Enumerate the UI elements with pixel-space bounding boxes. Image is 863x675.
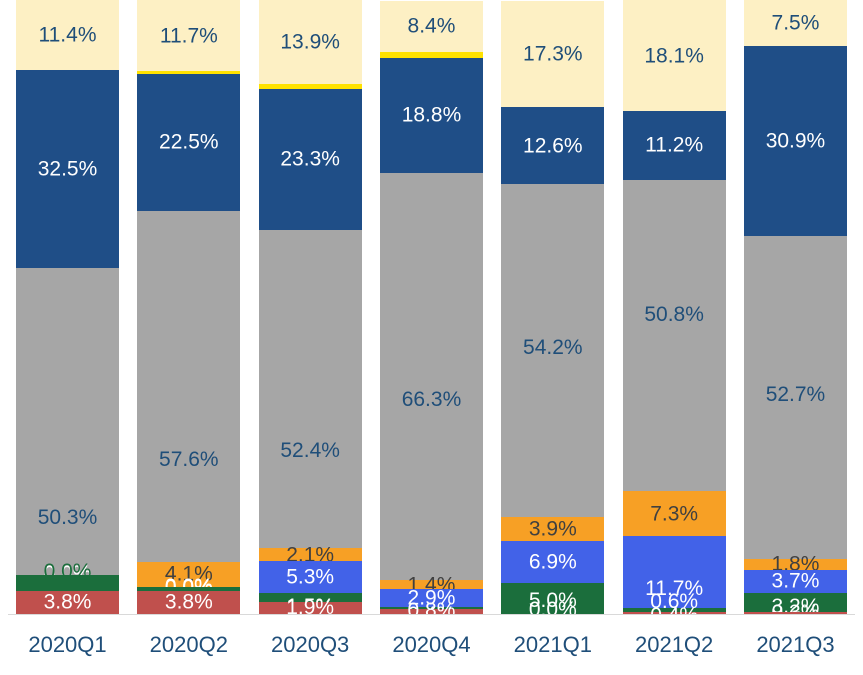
axis-label-2021Q2: 2021Q2 xyxy=(623,632,726,658)
segment-label-blue-2021Q1: 6.9% xyxy=(501,552,604,573)
segment-label-blue-2021Q2: 11.7% xyxy=(623,578,726,599)
segment-label-red-2020Q1: 3.8% xyxy=(16,592,119,613)
segment-label-dark-blue-2020Q3: 23.3% xyxy=(259,149,362,170)
axis-label-2020Q3: 2020Q3 xyxy=(259,632,362,658)
segment-orange-2020Q2[interactable]: 4.1% 0.0% xyxy=(137,562,240,587)
segment-label-dark-blue-2021Q2: 11.2% xyxy=(623,135,726,156)
segment-label-gray-2020Q1: 50.3% xyxy=(16,507,119,528)
segment-dark-blue-2021Q2[interactable]: 11.2% xyxy=(623,111,726,180)
axis-label-2020Q2: 2020Q2 xyxy=(137,632,240,658)
segment-cream-2021Q1[interactable]: 17.3% xyxy=(501,1,604,107)
segment-label-orange-2021Q2: 7.3% xyxy=(623,503,726,524)
segment-label-cream-2020Q2: 11.7% xyxy=(137,25,240,46)
segment-blue-2021Q2[interactable]: 11.7% 0.6% xyxy=(623,536,726,608)
category-axis: 2020Q1 2020Q2 2020Q3 2020Q4 2021Q1 2021Q… xyxy=(0,615,863,675)
segment-dark-blue-2020Q4[interactable]: 18.8% xyxy=(380,58,483,173)
segment-dark-blue-2021Q3[interactable]: 30.9% xyxy=(744,46,847,236)
segment-label-blue-2021Q3: 3.7% xyxy=(744,571,847,592)
segment-label-cream-2021Q2: 18.1% xyxy=(623,45,726,66)
segment-label-cream-2020Q3: 13.9% xyxy=(259,32,362,53)
segment-dark-green-2021Q3[interactable]: 3.2% 0.3% xyxy=(744,593,847,613)
segment-orange-2020Q3[interactable]: 2.1% xyxy=(259,548,362,561)
segment-label-cream-2020Q4: 8.4% xyxy=(380,16,483,37)
segment-label-cream-2021Q1: 17.3% xyxy=(501,43,604,64)
segment-label-dark-blue-2020Q2: 22.5% xyxy=(137,132,240,153)
segment-orange-2021Q1[interactable]: 3.9% xyxy=(501,517,604,541)
bar-column-2021Q3[interactable]: 7.5% 30.9% 52.7% 1.8% 3.7% 3.2% 0.3% xyxy=(744,0,847,614)
segment-red-2020Q2[interactable]: 3.8% xyxy=(137,591,240,614)
segment-label-blue-2020Q3: 5.3% xyxy=(259,567,362,588)
segment-gray-2021Q1[interactable]: 54.2% xyxy=(501,184,604,517)
segment-label-gray-2021Q1: 54.2% xyxy=(501,337,604,358)
segment-blue-2020Q4[interactable]: 2.9% xyxy=(380,589,483,607)
segment-cream-2020Q1[interactable]: 11.4% xyxy=(16,0,119,70)
axis-label-2020Q4: 2020Q4 xyxy=(380,632,483,658)
segment-dark-green-2020Q1[interactable] xyxy=(16,575,119,591)
bar-group-container: 11.4% 32.5% 50.3% 0.0% 0.0% 3.8% xyxy=(0,0,863,614)
segment-cream-2020Q4[interactable]: 8.4% xyxy=(380,1,483,53)
segment-gray-2021Q2[interactable]: 50.8% xyxy=(623,180,726,492)
segment-blue-2020Q3[interactable]: 5.3% xyxy=(259,561,362,593)
segment-dark-blue-2020Q1[interactable]: 32.5% xyxy=(16,70,119,268)
segment-label-cream-2021Q3: 7.5% xyxy=(744,13,847,34)
segment-dark-green-2020Q3[interactable]: 1.5% xyxy=(259,593,362,602)
bar-column-2020Q3[interactable]: 13.9% 23.3% 52.4% 2.1% 5.3% 1.5% xyxy=(259,0,362,614)
bar-column-2021Q1[interactable]: 17.3% 12.6% 54.2% 3.9% 6.9% 5.0% 0.0% xyxy=(501,0,604,614)
segment-gray-2020Q4[interactable]: 66.3% xyxy=(380,173,483,580)
segment-dark-green-2021Q1[interactable]: 5.0% 0.0% xyxy=(501,583,604,614)
axis-label-2020Q1: 2020Q1 xyxy=(16,632,119,658)
segment-dark-blue-2021Q1[interactable]: 12.6% xyxy=(501,107,604,184)
segment-label-dark-blue-2021Q1: 12.6% xyxy=(501,135,604,156)
segment-blue-2021Q1[interactable]: 6.9% xyxy=(501,541,604,583)
stacked-bar-chart: 11.4% 32.5% 50.3% 0.0% 0.0% 3.8% xyxy=(0,0,863,675)
segment-label-cream-2020Q1: 11.4% xyxy=(16,24,119,45)
segment-label-red-2020Q2: 3.8% xyxy=(137,592,240,613)
axis-label-2021Q3: 2021Q3 xyxy=(744,632,847,658)
segment-label-gray-2021Q2: 50.8% xyxy=(623,304,726,325)
bar-column-2020Q4[interactable]: 8.4% 18.8% 66.3% 1.4% 2.9% 0.4% xyxy=(380,0,483,614)
axis-label-2021Q1: 2021Q1 xyxy=(501,632,604,658)
segment-label-dark-blue-2020Q4: 18.8% xyxy=(380,105,483,126)
segment-label-gray-2020Q4: 66.3% xyxy=(380,389,483,410)
segment-red-2020Q3[interactable]: 1.9% xyxy=(259,602,362,614)
segment-orange-2021Q3[interactable]: 1.8% xyxy=(744,559,847,570)
segment-dark-blue-2020Q3[interactable]: 23.3% xyxy=(259,89,362,231)
segment-label-dark-blue-2020Q1: 32.5% xyxy=(16,158,119,179)
segment-cream-2021Q3[interactable]: 7.5% xyxy=(744,0,847,46)
segment-gray-2020Q3[interactable]: 52.4% xyxy=(259,230,362,548)
plot-area: 11.4% 32.5% 50.3% 0.0% 0.0% 3.8% xyxy=(0,0,863,615)
segment-cream-2021Q2[interactable]: 18.1% xyxy=(623,0,726,111)
segment-red-2020Q1[interactable]: 3.8% xyxy=(16,591,119,614)
segment-label-orange-2021Q1: 3.9% xyxy=(501,518,604,539)
segment-label-gray-2020Q2: 57.6% xyxy=(137,449,240,470)
segment-cream-2020Q2[interactable]: 11.7% xyxy=(137,0,240,71)
segment-label-blue-2020Q4: 2.9% xyxy=(380,587,483,608)
segment-label-dark-green-2021Q1: 5.0% xyxy=(501,590,604,611)
segment-label-orange-2020Q2: 4.1% xyxy=(137,564,240,585)
segment-cream-2020Q3[interactable]: 13.9% xyxy=(259,0,362,84)
segment-orange-2020Q4[interactable]: 1.4% xyxy=(380,580,483,589)
bar-column-2020Q2[interactable]: 11.7% 22.5% 57.6% 4.1% 0.0% 0.0% xyxy=(137,0,240,614)
segment-label-dark-blue-2021Q3: 30.9% xyxy=(744,130,847,151)
bar-column-2021Q2[interactable]: 18.1% 11.2% 50.8% 7.3% 11.7% 0.6% xyxy=(623,0,726,614)
bar-column-2020Q1[interactable]: 11.4% 32.5% 50.3% 0.0% 0.0% 3.8% xyxy=(16,0,119,614)
segment-orange-2021Q2[interactable]: 7.3% xyxy=(623,491,726,536)
segment-blue-2021Q3[interactable]: 3.7% xyxy=(744,570,847,593)
segment-label-gray-2021Q3: 52.7% xyxy=(744,384,847,405)
segment-gray-2020Q2[interactable]: 57.6% xyxy=(137,211,240,562)
segment-dark-blue-2020Q2[interactable]: 22.5% xyxy=(137,74,240,211)
segment-gray-2020Q1[interactable]: 50.3% xyxy=(16,268,119,575)
segment-label-gray-2020Q3: 52.4% xyxy=(259,440,362,461)
segment-gray-2021Q3[interactable]: 52.7% xyxy=(744,236,847,559)
